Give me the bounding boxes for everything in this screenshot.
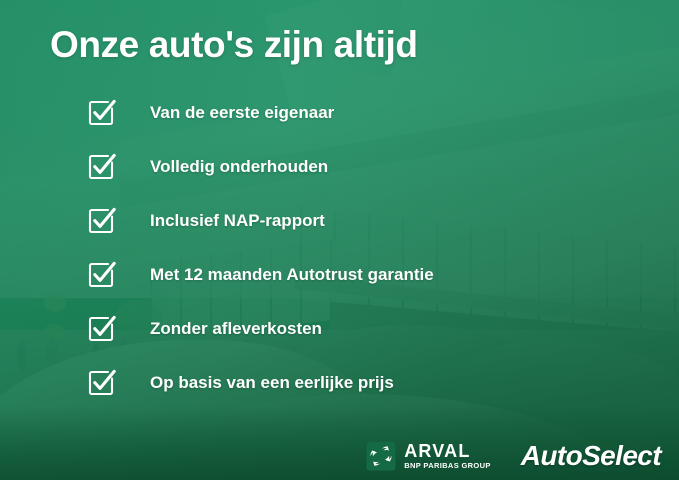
list-item-label: Van de eerste eigenaar: [150, 103, 334, 123]
banner-content: Onze auto's zijn altijd Van de eerste ei…: [0, 0, 679, 480]
arval-logo: ARVAL BNP PARIBAS GROUP: [366, 441, 491, 471]
list-item-label: Volledig onderhouden: [150, 157, 328, 177]
partner-logos: ARVAL BNP PARIBAS GROUP AutoSelect: [366, 440, 661, 472]
list-item-label: Op basis van een eerlijke prijs: [150, 373, 394, 393]
checkbox-checked-icon: [88, 261, 116, 289]
checkbox-checked-icon: [88, 369, 116, 397]
checkbox-checked-icon: [88, 99, 116, 127]
promo-banner: Onze auto's zijn altijd Van de eerste ei…: [0, 0, 679, 480]
checkbox-checked-icon: [88, 207, 116, 235]
list-item: Van de eerste eigenaar: [88, 96, 434, 129]
list-item: Op basis van een eerlijke prijs: [88, 366, 434, 399]
arval-wordmark: ARVAL BNP PARIBAS GROUP: [404, 442, 491, 470]
arval-name: ARVAL: [404, 442, 491, 460]
headline: Onze auto's zijn altijd: [50, 24, 418, 65]
list-item-label: Zonder afleverkosten: [150, 319, 322, 339]
list-item: Volledig onderhouden: [88, 150, 434, 183]
list-item-label: Inclusief NAP-rapport: [150, 211, 325, 231]
list-item: Zonder afleverkosten: [88, 312, 434, 345]
checkbox-checked-icon: [88, 315, 116, 343]
list-item-label: Met 12 maanden Autotrust garantie: [150, 265, 434, 285]
list-item: Met 12 maanden Autotrust garantie: [88, 258, 434, 291]
benefits-checklist: Van de eerste eigenaar Volledig onderhou…: [88, 96, 434, 420]
bnp-paribas-stars-icon: [366, 441, 396, 471]
list-item: Inclusief NAP-rapport: [88, 204, 434, 237]
checkbox-checked-icon: [88, 153, 116, 181]
arval-subtitle: BNP PARIBAS GROUP: [404, 462, 491, 470]
autoselect-logo: AutoSelect: [521, 440, 661, 472]
